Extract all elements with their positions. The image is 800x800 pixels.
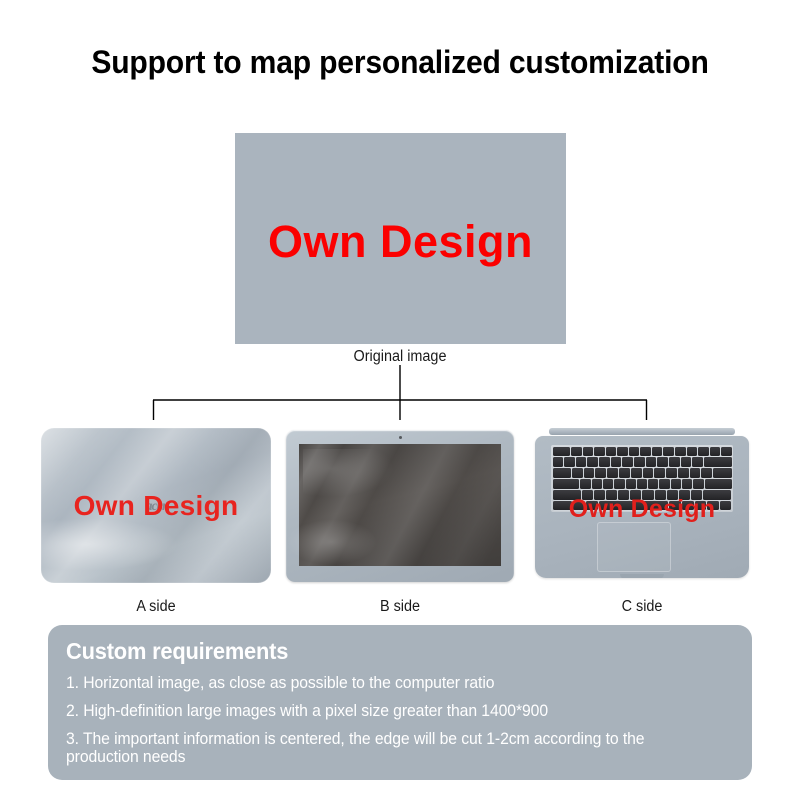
laptop-base — [535, 436, 749, 578]
laptop-a-caption: A side — [49, 598, 263, 616]
keyboard-row — [553, 479, 732, 489]
original-image-panel: Own Design — [235, 133, 566, 344]
webcam-icon — [399, 436, 402, 439]
laptop-c-side: Own Design — [527, 428, 757, 586]
laptop-lid: acer Own Design — [41, 428, 271, 583]
requirement-item-1: 1. Horizontal image, as close as possibl… — [66, 674, 704, 692]
laptop-a-side: acer Own Design — [41, 428, 271, 586]
base-notch — [620, 574, 664, 578]
original-image-caption: Original image — [28, 348, 772, 366]
requirement-item-2: 2. High-definition large images with a p… — [66, 702, 704, 720]
keyboard — [551, 445, 733, 512]
original-image-design-text: Own Design — [268, 216, 533, 268]
laptop-screen — [299, 444, 501, 566]
laptop-b-side — [286, 428, 514, 586]
keyboard-row — [553, 468, 732, 478]
trackpad — [597, 522, 671, 572]
keyboard-row — [553, 490, 732, 500]
connector-bracket — [0, 365, 800, 420]
custom-requirements-box: Custom requirements 1. Horizontal image,… — [48, 625, 752, 780]
keyboard-row — [553, 447, 732, 457]
laptop-screen-bezel — [286, 430, 514, 582]
page-title: Support to map personalized customizatio… — [24, 44, 776, 81]
keyboard-row — [553, 501, 732, 511]
laptop-b-caption: B side — [294, 598, 506, 616]
laptop-deck: Own Design — [527, 428, 757, 586]
laptop-hinge — [549, 428, 735, 435]
keyboard-row — [553, 457, 732, 467]
requirements-title: Custom requirements — [66, 638, 701, 665]
laptop-lid-overlay-text: Own Design — [74, 490, 239, 522]
laptop-c-caption: C side — [535, 598, 749, 616]
requirement-item-3: 3. The important information is centered… — [66, 730, 704, 766]
